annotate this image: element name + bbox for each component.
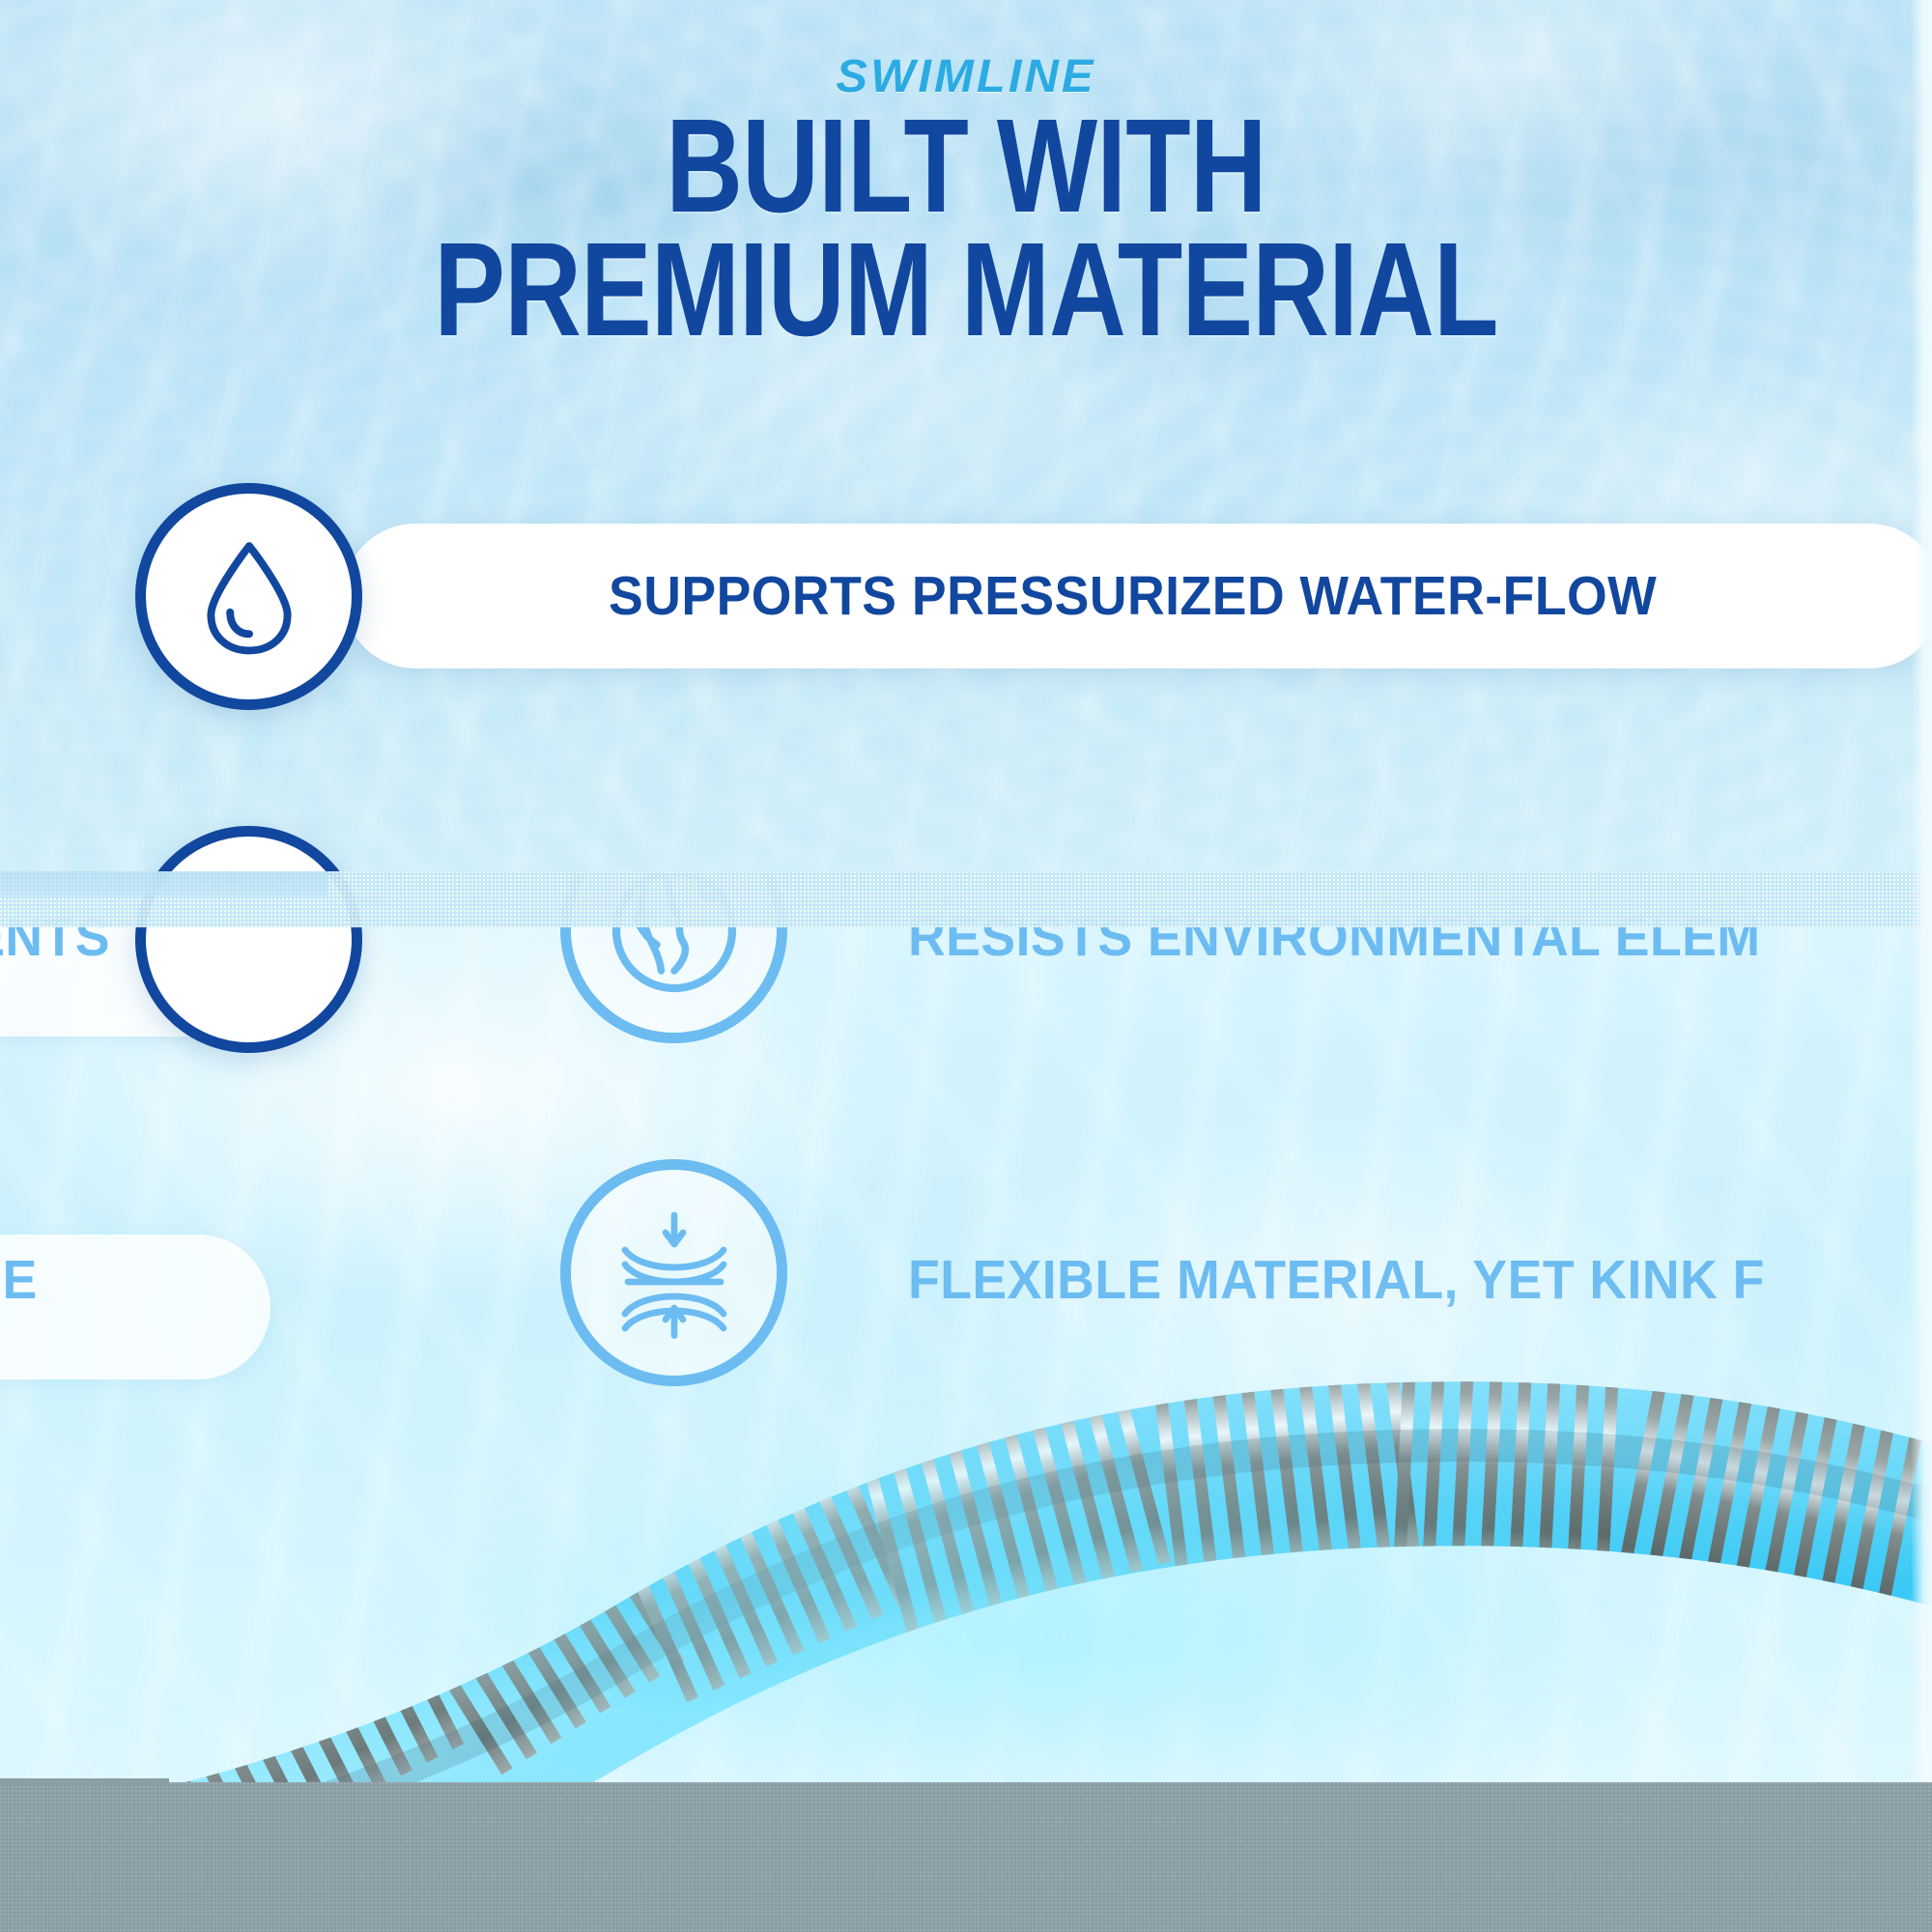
bottom-gray-band: [0, 1782, 1932, 1932]
panel-seam-step: [0, 871, 328, 896]
feature-pill-flexible-left: [0, 1235, 270, 1379]
feature-label-flexible: FLEXIBLE MATERIAL, YET KINK F: [908, 1248, 1765, 1312]
feature-label-primary: SUPPORTS PRESSURIZED WATER-FLOW: [609, 564, 1657, 628]
water-drop-icon-badge: [135, 483, 362, 710]
water-drop-icon: [185, 533, 313, 661]
right-edge-fade: [1911, 0, 1932, 1782]
feature-icon-circle-partial: [135, 826, 362, 1053]
flexible-compression-icon-badge: [560, 1159, 787, 1386]
feature-label-flexible-fragment: REE: [0, 1248, 38, 1312]
bottom-band-notch: [0, 1778, 169, 1784]
feature-pill-primary: SUPPORTS PRESSURIZED WATER-FLOW: [343, 524, 1932, 668]
page-title: BUILT WITH PREMIUM MATERIAL: [0, 104, 1932, 353]
headline-line-2: PREMIUM MATERIAL: [193, 228, 1739, 352]
flexible-compression-icon: [602, 1201, 747, 1346]
infographic-canvas: SWIMLINE BUILT WITH PREMIUM MATERIAL SUP…: [0, 0, 1932, 1932]
feature-row-primary: SUPPORTS PRESSURIZED WATER-FLOW: [135, 483, 1835, 710]
headline-line-1: BUILT WITH: [193, 104, 1739, 228]
feature-row-flexible: REE FLEXIBLE MATERIAL, YET KINK F: [0, 1179, 1932, 1459]
